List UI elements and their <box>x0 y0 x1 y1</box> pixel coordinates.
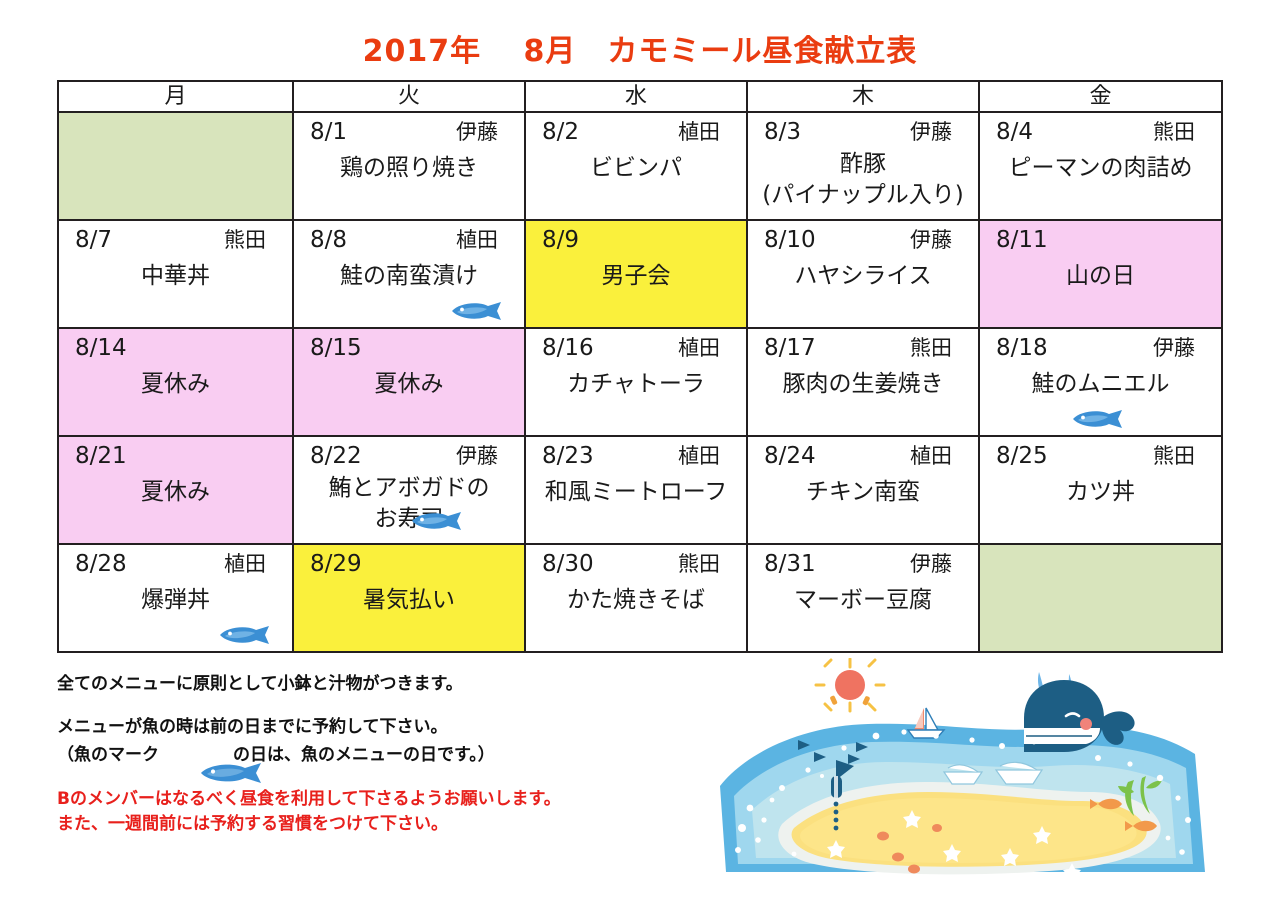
day-date: 8/23 <box>536 440 594 472</box>
calendar-cell-8-22[interactable]: 8/22伊藤鮪とアボガドの お寿司 <box>293 436 525 544</box>
calendar-cell-8-9[interactable]: 8/9男子会 <box>525 220 747 328</box>
day-date: 8/11 <box>990 224 1048 256</box>
day-date: 8/14 <box>69 332 127 364</box>
day-menu: 鶏の照り焼き <box>304 152 514 185</box>
day-chef: 伊藤 <box>910 224 968 256</box>
day-chef: 伊藤 <box>456 116 514 148</box>
day-topline: 8/24植田 <box>758 440 968 472</box>
note-line-4: Bのメンバーはなるべく昼食を利用して下さるようお願いします。 <box>57 787 697 812</box>
calendar-cell-8-21[interactable]: 8/21夏休み <box>58 436 293 544</box>
day-content: 8/31伊藤マーボー豆腐 <box>748 545 978 651</box>
day-topline: 8/31伊藤 <box>758 548 968 580</box>
calendar-cell-8-3[interactable]: 8/3伊藤酢豚 (パイナップル入り) <box>747 112 979 220</box>
day-menu: 男子会 <box>536 260 736 293</box>
day-content: 8/10伊藤ハヤシライス <box>748 221 978 327</box>
day-date: 8/2 <box>536 116 579 148</box>
day-topline: 8/21 <box>69 440 282 472</box>
day-menu: 夏休み <box>69 368 282 401</box>
day-menu: ビビンパ <box>536 152 736 185</box>
calendar-cell-8-10[interactable]: 8/10伊藤ハヤシライス <box>747 220 979 328</box>
day-menu: チキン南蛮 <box>758 476 968 509</box>
calendar-cell-8-24[interactable]: 8/24植田チキン南蛮 <box>747 436 979 544</box>
day-date: 8/25 <box>990 440 1048 472</box>
day-date: 8/1 <box>304 116 347 148</box>
day-chef: 熊田 <box>1153 440 1211 472</box>
day-menu: ハヤシライス <box>758 260 968 293</box>
day-chef: 熊田 <box>224 224 282 256</box>
day-topline: 8/14 <box>69 332 282 364</box>
calendar-cell-8-28[interactable]: 8/28植田爆弾丼 <box>58 544 293 652</box>
day-menu: ピーマンの肉詰め <box>990 152 1211 185</box>
calendar-cell-8-23[interactable]: 8/23植田和風ミートローフ <box>525 436 747 544</box>
notes-block: 全てのメニューに原則として小鉢と汁物がつきます。 メニューが魚の時は前の日までに… <box>57 672 697 837</box>
calendar-week-row: 8/1伊藤鶏の照り焼き8/2植田ビビンパ8/3伊藤酢豚 (パイナップル入り)8/… <box>58 112 1222 220</box>
whale-icon <box>1024 672 1135 752</box>
day-date: 8/17 <box>758 332 816 364</box>
day-chef: 熊田 <box>910 332 968 364</box>
calendar-cell-8-11[interactable]: 8/11山の日 <box>979 220 1222 328</box>
calendar-cell-8-29[interactable]: 8/29暑気払い <box>293 544 525 652</box>
day-topline: 8/1伊藤 <box>304 116 514 148</box>
day-date: 8/28 <box>69 548 127 580</box>
day-date: 8/15 <box>304 332 362 364</box>
day-topline: 8/30熊田 <box>536 548 736 580</box>
day-date: 8/8 <box>304 224 347 256</box>
beach-illustration <box>690 658 1235 903</box>
weekday-header-fri: 金 <box>979 81 1222 112</box>
day-topline: 8/15 <box>304 332 514 364</box>
calendar-week-row: 8/21夏休み8/22伊藤鮪とアボガドの お寿司 8/23植田和風ミートローフ8… <box>58 436 1222 544</box>
day-menu: カツ丼 <box>990 476 1211 509</box>
day-chef: 熊田 <box>678 548 736 580</box>
day-topline: 8/16植田 <box>536 332 736 364</box>
fish-icon <box>1071 409 1125 429</box>
weekday-header-tue: 火 <box>293 81 525 112</box>
weekday-header-wed: 水 <box>525 81 747 112</box>
day-topline: 8/3伊藤 <box>758 116 968 148</box>
weekday-header-mon: 月 <box>58 81 293 112</box>
day-date: 8/9 <box>536 224 579 256</box>
calendar-week-row: 8/7熊田中華丼8/8植田鮭の南蛮漬け 8/9男子会8/10伊藤ハヤシライス8/… <box>58 220 1222 328</box>
day-content: 8/3伊藤酢豚 (パイナップル入り) <box>748 113 978 219</box>
calendar-cell-8-18[interactable]: 8/18伊藤鮭のムニエル <box>979 328 1222 436</box>
day-topline: 8/25熊田 <box>990 440 1211 472</box>
day-menu: かた焼きそば <box>536 584 736 617</box>
day-menu: 豚肉の生姜焼き <box>758 368 968 401</box>
day-content: 8/30熊田かた焼きそば <box>526 545 746 651</box>
day-chef: 伊藤 <box>1153 332 1211 364</box>
day-topline: 8/2植田 <box>536 116 736 148</box>
day-topline: 8/8植田 <box>304 224 514 256</box>
note-line-3-prefix: （魚のマーク <box>57 740 159 765</box>
day-topline: 8/4熊田 <box>990 116 1211 148</box>
day-date: 8/4 <box>990 116 1033 148</box>
day-date: 8/30 <box>536 548 594 580</box>
calendar-cell-8-4[interactable]: 8/4熊田ピーマンの肉詰め <box>979 112 1222 220</box>
note-line-5: また、一週間前には予約する習慣をつけて下さい。 <box>57 812 697 837</box>
day-topline: 8/7熊田 <box>69 224 282 256</box>
day-topline: 8/29 <box>304 548 514 580</box>
day-chef: 植田 <box>910 440 968 472</box>
lunch-menu-calendar: 月 火 水 木 金 8/1伊藤鶏の照り焼き8/2植田ビビンパ8/3伊藤酢豚 (パ… <box>57 80 1223 653</box>
calendar-cell-8-25[interactable]: 8/25熊田カツ丼 <box>979 436 1222 544</box>
fish-icon <box>163 742 229 764</box>
calendar-cell-8-31[interactable]: 8/31伊藤マーボー豆腐 <box>747 544 979 652</box>
day-content: 8/24植田チキン南蛮 <box>748 437 978 543</box>
calendar-cell-8-14[interactable]: 8/14夏休み <box>58 328 293 436</box>
day-date: 8/21 <box>69 440 127 472</box>
day-chef: 伊藤 <box>910 116 968 148</box>
day-content: 8/28植田爆弾丼 <box>59 545 292 651</box>
day-menu: 鮭の南蛮漬け <box>304 260 514 293</box>
day-content: 8/23植田和風ミートローフ <box>526 437 746 543</box>
calendar-cell-8-2[interactable]: 8/2植田ビビンパ <box>525 112 747 220</box>
day-menu: カチャトーラ <box>536 368 736 401</box>
fish-icon <box>450 301 504 321</box>
fish-icon <box>218 625 272 645</box>
day-topline: 8/22伊藤 <box>304 440 514 472</box>
day-content: 8/16植田カチャトーラ <box>526 329 746 435</box>
day-chef: 植田 <box>456 224 514 256</box>
day-topline: 8/17熊田 <box>758 332 968 364</box>
day-content: 8/7熊田中華丼 <box>59 221 292 327</box>
day-content: 8/14夏休み <box>59 329 292 435</box>
day-chef: 伊藤 <box>910 548 968 580</box>
day-content: 8/25熊田カツ丼 <box>980 437 1221 543</box>
day-chef: 植田 <box>224 548 282 580</box>
day-menu: 和風ミートローフ <box>536 476 736 509</box>
day-content: 8/17熊田豚肉の生姜焼き <box>748 329 978 435</box>
day-chef: 植田 <box>678 440 736 472</box>
day-topline: 8/10伊藤 <box>758 224 968 256</box>
calendar-cell-8-17[interactable]: 8/17熊田豚肉の生姜焼き <box>747 328 979 436</box>
day-chef: 伊藤 <box>456 440 514 472</box>
day-menu: マーボー豆腐 <box>758 584 968 617</box>
day-content: 8/11山の日 <box>980 221 1221 327</box>
day-menu: 爆弾丼 <box>69 584 282 617</box>
day-content: 8/18伊藤鮭のムニエル <box>980 329 1221 435</box>
day-chef: 植田 <box>678 116 736 148</box>
day-content <box>59 113 292 219</box>
note-line-3: （魚のマーク の日は、魚のメニューの日です。） <box>57 740 697 765</box>
day-content <box>980 545 1221 651</box>
day-content: 8/21夏休み <box>59 437 292 543</box>
day-menu: 中華丼 <box>69 260 282 293</box>
calendar-week-row: 8/28植田爆弾丼 8/29暑気払い8/30熊田かた焼きそば8/31伊藤マーボー… <box>58 544 1222 652</box>
day-topline: 8/11 <box>990 224 1211 256</box>
day-menu: 鮪とアボガドの お寿司 <box>304 473 514 535</box>
day-content: 8/22伊藤鮪とアボガドの お寿司 <box>294 437 524 543</box>
day-date: 8/3 <box>758 116 801 148</box>
day-date: 8/7 <box>69 224 112 256</box>
calendar-week-row: 8/14夏休み8/15夏休み8/16植田カチャトーラ8/17熊田豚肉の生姜焼き8… <box>58 328 1222 436</box>
calendar-cell-empty-0-0[interactable] <box>58 112 293 220</box>
day-date: 8/29 <box>304 548 362 580</box>
day-content: 8/9男子会 <box>526 221 746 327</box>
day-date: 8/24 <box>758 440 816 472</box>
calendar-cell-empty-4-4[interactable] <box>979 544 1222 652</box>
day-chef: 植田 <box>678 332 736 364</box>
calendar-cell-8-30[interactable]: 8/30熊田かた焼きそば <box>525 544 747 652</box>
note-line-2: メニューが魚の時は前の日までに予約して下さい。 <box>57 715 697 740</box>
day-chef: 熊田 <box>1153 116 1211 148</box>
day-content: 8/8植田鮭の南蛮漬け <box>294 221 524 327</box>
note-line-1: 全てのメニューに原則として小鉢と汁物がつきます。 <box>57 672 697 697</box>
day-menu: 山の日 <box>990 260 1211 293</box>
sun-icon <box>816 659 884 711</box>
day-content: 8/2植田ビビンパ <box>526 113 746 219</box>
day-date: 8/22 <box>304 440 362 472</box>
calendar-body: 8/1伊藤鶏の照り焼き8/2植田ビビンパ8/3伊藤酢豚 (パイナップル入り)8/… <box>58 112 1222 652</box>
weekday-header-row: 月 火 水 木 金 <box>58 81 1222 112</box>
calendar-cell-8-7[interactable]: 8/7熊田中華丼 <box>58 220 293 328</box>
day-topline: 8/23植田 <box>536 440 736 472</box>
day-menu: 暑気払い <box>304 584 514 617</box>
day-menu: 酢豚 (パイナップル入り) <box>758 149 968 211</box>
sailboat-icon <box>908 708 944 738</box>
day-menu: 夏休み <box>304 368 514 401</box>
day-topline: 8/18伊藤 <box>990 332 1211 364</box>
day-content: 8/1伊藤鶏の照り焼き <box>294 113 524 219</box>
day-topline: 8/28植田 <box>69 548 282 580</box>
calendar-cell-8-1[interactable]: 8/1伊藤鶏の照り焼き <box>293 112 525 220</box>
day-menu: 鮭のムニエル <box>990 368 1211 401</box>
day-topline: 8/9 <box>536 224 736 256</box>
note-line-3-suffix: の日は、魚のメニューの日です。） <box>233 740 495 765</box>
day-menu: 夏休み <box>69 476 282 509</box>
day-date: 8/31 <box>758 548 816 580</box>
weekday-header-thu: 木 <box>747 81 979 112</box>
calendar-cell-8-15[interactable]: 8/15夏休み <box>293 328 525 436</box>
day-content: 8/4熊田ピーマンの肉詰め <box>980 113 1221 219</box>
fish-icon <box>410 511 464 531</box>
day-date: 8/16 <box>536 332 594 364</box>
day-date: 8/18 <box>990 332 1048 364</box>
day-date: 8/10 <box>758 224 816 256</box>
day-content: 8/15夏休み <box>294 329 524 435</box>
calendar-cell-8-16[interactable]: 8/16植田カチャトーラ <box>525 328 747 436</box>
calendar-cell-8-8[interactable]: 8/8植田鮭の南蛮漬け <box>293 220 525 328</box>
day-content: 8/29暑気払い <box>294 545 524 651</box>
page-title: 2017年 8月 カモミール昼食献立表 <box>0 26 1280 70</box>
